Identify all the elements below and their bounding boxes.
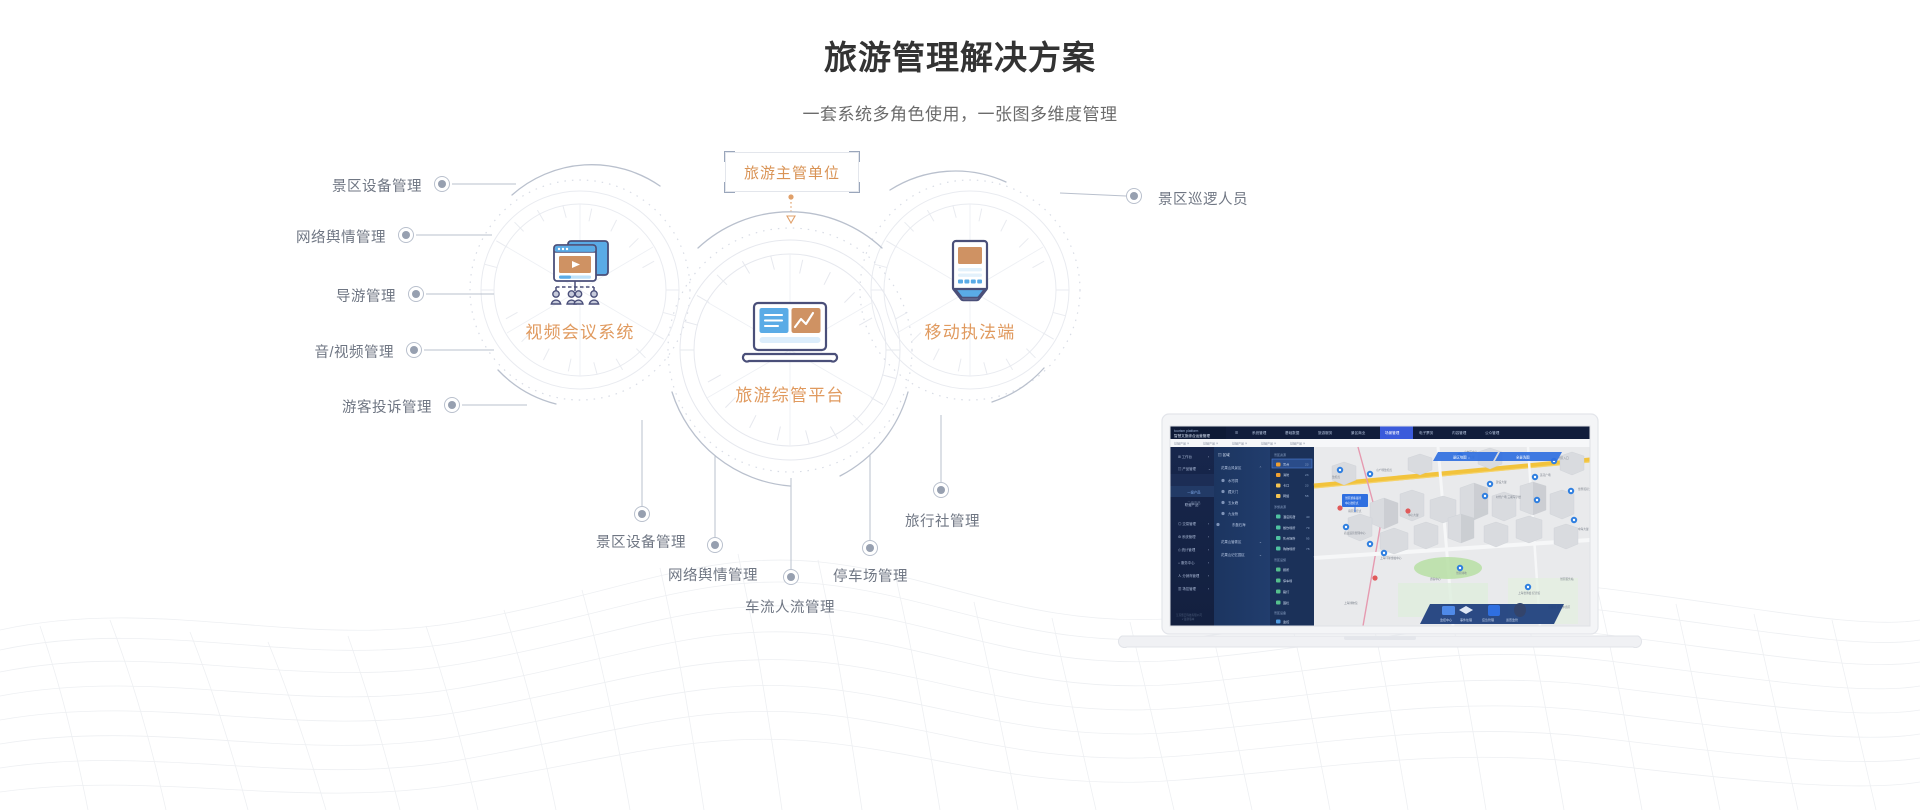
svg-text:巡查监管: 巡查监管 [1506, 617, 1518, 622]
page-title: 旅游管理解决方案 [0, 38, 1920, 78]
label-network-opinion-left[interactable]: 网络舆情管理 [226, 226, 386, 247]
svg-text:›: › [1208, 455, 1209, 459]
svg-text:⌃: ⌃ [1259, 466, 1262, 470]
right-connector-lines [1060, 189, 1142, 204]
svg-text:场景管理: 场景管理 [1385, 430, 1400, 435]
authority-label: 旅游主管单位 [725, 152, 859, 192]
svg-text:游客中心: 游客中心 [1430, 577, 1441, 581]
svg-text:涉旅资源: 涉旅资源 [1274, 504, 1286, 509]
video-conference-icon [548, 234, 614, 306]
svg-text:商业运营管理中心: 商业运营管理中心 [1344, 531, 1366, 535]
hub-caption-video-conference: 视频会议系统 [480, 318, 680, 343]
label-network-opinion-bottom[interactable]: 网络舆情管理 [668, 564, 828, 585]
svg-text:基础产品 ✕: 基础产品 ✕ [1232, 441, 1248, 446]
svg-text:酒店民宿: 酒店民宿 [1283, 514, 1295, 519]
svg-text:基础数据: 基础数据 [1285, 430, 1300, 435]
svg-text:▤ 区域: ▤ 区域 [1218, 452, 1230, 457]
header: 旅游管理解决方案 一套系统多角色使用，一张图多维度管理 [0, 0, 1920, 125]
corner-bracket-bottom-right [849, 182, 860, 193]
hub-caption-mobile-enforcement: 移动执法端 [880, 318, 1060, 343]
svg-text:78: 78 [1306, 547, 1310, 551]
svg-text:中心大厦: 中心大厦 [1408, 513, 1419, 517]
svg-text:基础产品 ✕: 基础产品 ✕ [1203, 441, 1219, 446]
svg-text:景区设备: 景区设备 [1274, 610, 1286, 615]
mobile-enforcement-icon [946, 239, 994, 307]
svg-text:一级产品: 一级产品 [1184, 490, 1201, 495]
left-markers [399, 177, 460, 413]
svg-text:东磊石海: 东磊石海 [1232, 522, 1246, 527]
svg-text:▤ 产品管理: ▤ 产品管理 [1178, 466, 1197, 471]
svg-text:内容管理: 内容管理 [1452, 430, 1467, 435]
svg-text:水帘洞: 水帘洞 [1228, 478, 1239, 483]
svg-text:花果山风景区: 花果山风景区 [1221, 465, 1242, 470]
svg-text:⊞ 工作台: ⊞ 工作台 [1178, 454, 1193, 459]
svg-text:花果山管委区: 花果山管委区 [1221, 539, 1242, 544]
svg-text:江苏熙云科技有限公司: 江苏熙云科技有限公司 [1176, 613, 1202, 617]
label-traffic-flow-bottom[interactable]: 车流人流管理 [745, 596, 905, 617]
svg-text:路灯: 路灯 [1283, 589, 1289, 594]
label-guide-management-left[interactable]: 导游管理 [276, 285, 396, 306]
svg-text:围栏: 围栏 [1283, 600, 1289, 605]
svg-text:⚙ 系统管理: ⚙ 系统管理 [1178, 534, 1196, 539]
svg-text:◎ 交易管理: ◎ 交易管理 [1178, 521, 1197, 526]
svg-text:基础产品 ✕: 基础产品 ✕ [1261, 441, 1277, 446]
svg-text:⌄: ⌄ [1208, 467, 1211, 471]
svg-text:景区设施: 景区设施 [1274, 557, 1286, 562]
svg-text:建设大厦: 建设大厦 [1496, 480, 1507, 484]
svg-text:事件处理: 事件处理 [1460, 617, 1472, 622]
authority-connector [786, 194, 796, 224]
svg-text:时代广场 三期写字楼: 时代广场 三期写字楼 [1496, 495, 1521, 499]
svg-text:›: › [1208, 561, 1209, 565]
svg-text:人 分销商管理: 人 分销商管理 [1178, 573, 1200, 578]
svg-text:›: › [1208, 548, 1209, 552]
label-parking-bottom[interactable]: 停车场管理 [833, 565, 993, 586]
svg-text:售点场所: 售点场所 [1283, 536, 1295, 541]
label-travel-agency-bottom[interactable]: 旅行社管理 [905, 510, 1065, 531]
svg-text:监控: 监控 [1283, 619, 1289, 624]
tourism-platform-icon [740, 300, 840, 368]
label-scenic-equipment-left[interactable]: 景区设备管理 [262, 175, 422, 196]
svg-text:景区资源: 景区资源 [1274, 452, 1286, 457]
svg-text:二级产品: 二级产品 [1184, 500, 1201, 505]
svg-text:基础产品 ✕: 基础产品 ✕ [1174, 441, 1190, 446]
svg-text:应急管理: 应急管理 [1482, 617, 1494, 622]
svg-text:›: › [1208, 535, 1209, 539]
label-audio-video-left[interactable]: 音/视频管理 [249, 341, 394, 362]
svg-text:79: 79 [1306, 526, 1310, 530]
svg-text:中心监控点: 中心监控点 [1345, 501, 1359, 505]
svg-text:智慧文旅综合运营管理: 智慧文旅综合运营管理 [1174, 433, 1210, 438]
svg-text:景区入口: 景区入口 [1558, 456, 1569, 460]
svg-text:23: 23 [1305, 463, 1309, 467]
svg-text:中海大厦: 中海大厦 [1578, 527, 1589, 531]
svg-text:莲花广场: 莲花广场 [1540, 473, 1551, 477]
svg-text:40: 40 [1306, 515, 1310, 519]
svg-text:⎙ 统计管理: ⎙ 统计管理 [1178, 547, 1196, 552]
svg-text:基础产品 ✕: 基础产品 ✕ [1290, 441, 1306, 446]
svg-text:系统管理: 系统管理 [1252, 430, 1267, 435]
svg-text:网络: 网络 [1283, 493, 1289, 498]
svg-text:上海环球金融中心: 上海环球金融中心 [1380, 556, 1402, 560]
hub-caption-tourism-platform: 旅游综管平台 [690, 381, 890, 406]
svg-text:电子票务: 电子票务 [1419, 430, 1434, 435]
svg-text:监控点: 监控点 [1332, 475, 1340, 479]
svg-text:全景洗图: 全景洗图 [1516, 455, 1530, 460]
svg-text:⌄: ⌄ [1259, 553, 1262, 557]
svg-text:上海世博会 纪念馆: 上海世博会 纪念馆 [1518, 591, 1541, 595]
svg-text:⌄: ⌄ [1259, 540, 1262, 544]
corner-bracket-bottom-left [724, 182, 735, 193]
page-subtitle: 一套系统多角色使用，一张图多维度管理 [0, 100, 1920, 125]
svg-text:景点: 景点 [1283, 462, 1289, 467]
svg-text:›: › [1208, 587, 1209, 591]
svg-text:停车场: 停车场 [1283, 578, 1292, 583]
authority-node[interactable]: 旅游主管单位 [725, 152, 859, 192]
svg-text:景区服务站: 景区服务站 [1560, 577, 1574, 581]
left-connector-lines [416, 184, 527, 405]
svg-text:花果山记忆园区: 花果山记忆园区 [1221, 552, 1245, 557]
svg-text:九龙桥: 九龙桥 [1228, 511, 1239, 516]
svg-text:›: › [1208, 522, 1209, 526]
svg-text:景区商业: 景区商业 [1351, 430, 1366, 435]
svg-text:公众管理: 公众管理 [1485, 430, 1500, 435]
svg-text:监控中心: 监控中心 [1440, 617, 1452, 622]
laptop-mockup: tourism platform 智慧文旅综合运营管理 ☰ 系统管理 基础数据 … [1108, 408, 1668, 668]
svg-text:95: 95 [1306, 537, 1310, 541]
svg-text:▦ 场控管理: ▦ 场控管理 [1178, 586, 1197, 591]
svg-text:购物场所: 购物场所 [1283, 546, 1295, 551]
svg-text:›: › [1208, 574, 1209, 578]
svg-text:23: 23 [1305, 473, 1309, 477]
svg-text:景区地图 ⌄: 景区地图 ⌄ [1453, 455, 1470, 460]
svg-text:厕所: 厕所 [1283, 567, 1289, 572]
svg-text:藏天门: 藏天门 [1228, 489, 1239, 494]
svg-text:卡口: 卡口 [1283, 483, 1289, 488]
svg-text:tourism platform: tourism platform [1174, 429, 1198, 433]
solution-diagram-page: 旅游管理解决方案 一套系统多角色使用，一张图多维度管理 旅游主管单位 [0, 0, 1920, 810]
svg-text:玉女峰: 玉女峰 [1228, 500, 1239, 505]
svg-text:v 最新版本: v 最新版本 [1182, 617, 1195, 621]
corner-bracket-top-right [849, 151, 860, 162]
svg-text:餐饮场所: 餐饮场所 [1283, 525, 1295, 530]
label-scenic-patrol-right[interactable]: 景区巡逻人员 [1158, 188, 1318, 209]
svg-text:⌂ 服务中心: ⌂ 服务中心 [1178, 560, 1195, 565]
label-tourist-complaint-left[interactable]: 游客投诉管理 [272, 396, 432, 417]
svg-text:景区绿地: 景区绿地 [1456, 571, 1467, 575]
corner-bracket-top-left [724, 151, 735, 162]
label-scenic-equipment-bottom[interactable]: 景区设备管理 [596, 531, 756, 552]
svg-text:小广场监控点: 小广场监控点 [1376, 468, 1392, 472]
svg-text:旅游服务: 旅游服务 [1318, 430, 1333, 435]
svg-text:消防: 消防 [1283, 472, 1289, 477]
svg-text:23: 23 [1305, 484, 1309, 488]
svg-text:上海博物馆: 上海博物馆 [1344, 601, 1358, 605]
svg-text:58: 58 [1305, 494, 1309, 498]
svg-text:景区游客接待: 景区游客接待 [1345, 496, 1361, 500]
